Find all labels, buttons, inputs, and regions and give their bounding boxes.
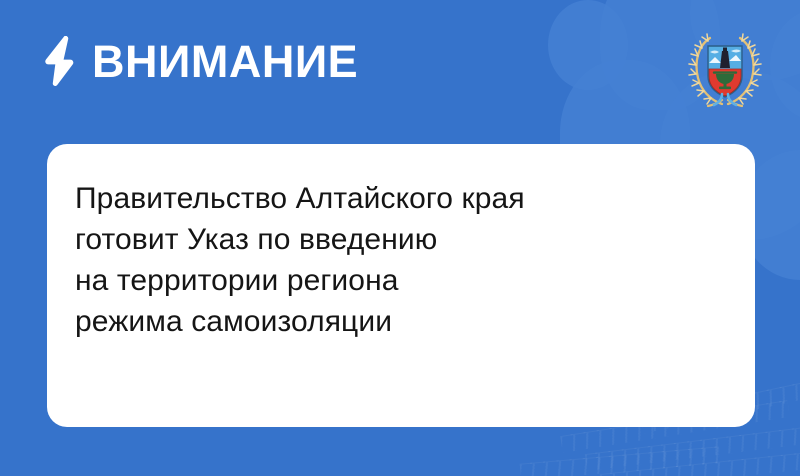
background-wheat-pattern — [520, 446, 721, 476]
background-wheat-pattern — [585, 426, 800, 471]
background-wheat-pattern — [600, 450, 800, 476]
announcement-message: Правительство Алтайского края готовит Ук… — [75, 178, 715, 342]
announcement-card: Правительство Алтайского края готовит Ук… — [47, 144, 755, 427]
background-blob-shape — [548, 0, 628, 90]
background-blob-shape — [770, 10, 800, 120]
altai-krai-coat-of-arms-icon — [688, 30, 762, 110]
page-title: ВНИМАНИЕ — [92, 39, 358, 84]
lightning-bolt-icon — [44, 36, 74, 86]
poster-header: ВНИМАНИЕ — [44, 36, 358, 86]
attention-announcement-poster: ВНИМАНИЕ — [0, 0, 800, 476]
